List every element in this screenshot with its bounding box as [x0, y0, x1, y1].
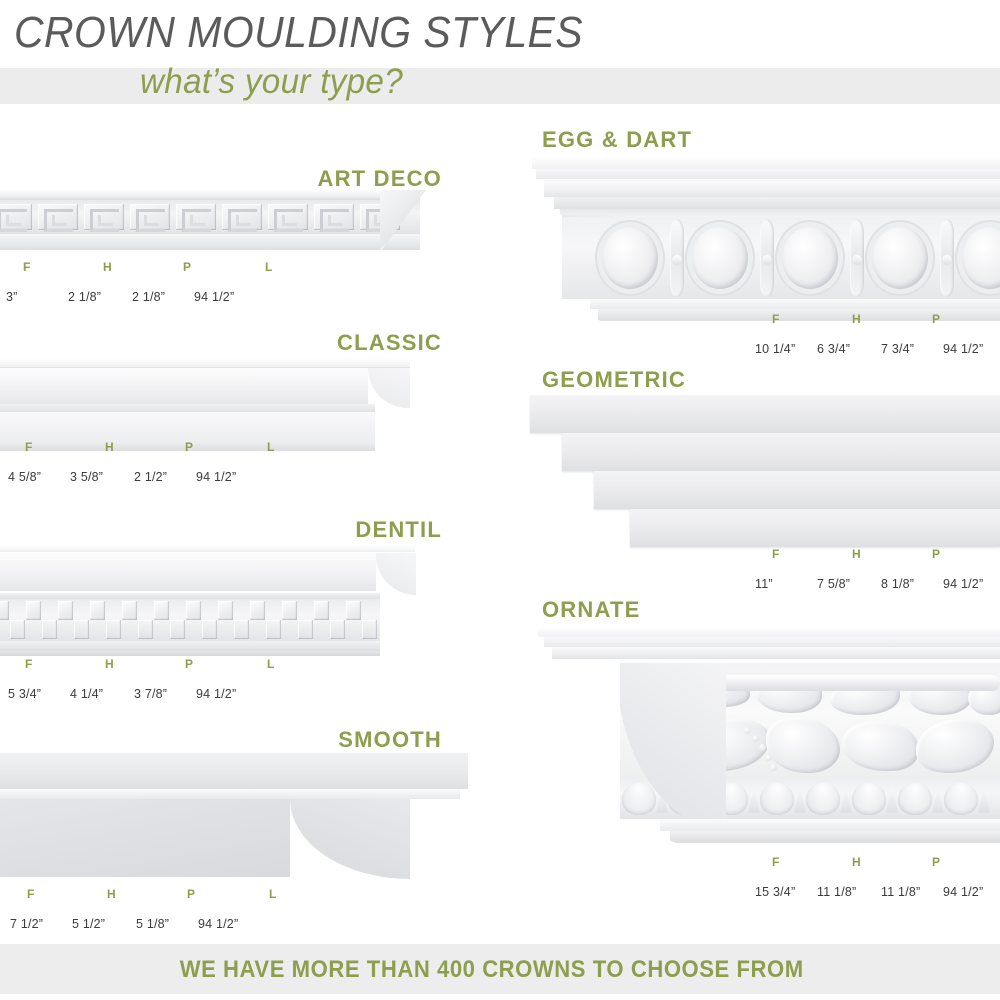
spec-header-l: L — [249, 887, 339, 901]
spec-header-f: F — [755, 312, 834, 326]
spec-header-h: H — [834, 312, 916, 326]
section-title-classic: CLASSIC — [337, 330, 442, 356]
infographic-page: CROWN MOULDING STYLES what’s your type? … — [0, 0, 1000, 1000]
spec-table-smooth: FHPL 7 1/2”5 1/2”5 1/8”94 1/2” — [10, 885, 339, 936]
spec-value-f: 11” — [755, 577, 817, 591]
spec-header-l: L — [245, 260, 335, 274]
spec-header-h: H — [87, 657, 169, 671]
spec-value-f: 3” — [6, 290, 68, 304]
spec-header-p: P — [171, 887, 249, 901]
moulding-profile-dentil — [0, 545, 450, 670]
moulding-profile-geometric — [520, 395, 1000, 550]
spec-header-f: F — [755, 855, 834, 869]
section-title-geometric: GEOMETRIC — [542, 367, 686, 393]
moulding-profile-art-deco — [0, 190, 450, 260]
spec-header-l: L — [994, 547, 1000, 561]
spec-value-p: 8 1/8” — [881, 577, 943, 591]
spec-header-p: P — [916, 312, 994, 326]
spec-value-f: 15 3/4” — [755, 885, 817, 899]
spec-header-h: H — [834, 547, 916, 561]
section-egg-and-dart: EGG & DART — [520, 125, 1000, 365]
spec-table-geometric: FHPL 11”7 5/8”8 1/8”94 1/2” — [755, 545, 1000, 596]
spec-header-f: F — [755, 547, 834, 561]
header: CROWN MOULDING STYLES what’s your type? — [0, 0, 1000, 110]
spec-value-h: 7 5/8” — [817, 577, 881, 591]
spec-header-f: F — [6, 260, 85, 274]
moulding-profile-egg-and-dart — [520, 157, 1000, 332]
spec-value-h: 3 5/8” — [70, 470, 134, 484]
spec-header-l: L — [994, 312, 1000, 326]
page-subtitle: what’s your type? — [140, 62, 403, 102]
spec-header-p: P — [169, 440, 247, 454]
spec-header-p: P — [167, 260, 245, 274]
section-title-smooth: SMOOTH — [338, 727, 442, 753]
spec-value-l: 94 1/2” — [196, 470, 266, 484]
spec-value-f: 10 1/4” — [755, 342, 817, 356]
spec-value-l: 94 1/2” — [198, 917, 268, 931]
section-art-deco: ART DECO FHP — [0, 160, 450, 300]
spec-value-p: 11 1/8” — [881, 885, 943, 899]
spec-header-f: F — [8, 440, 87, 454]
spec-header-p: P — [916, 855, 994, 869]
spec-header-p: P — [169, 657, 247, 671]
spec-value-l: 94 1/2” — [943, 577, 1000, 591]
moulding-profile-smooth — [0, 753, 480, 883]
spec-header-f: F — [10, 887, 89, 901]
section-ornate: ORNATE — [520, 595, 1000, 925]
section-dentil: DENTIL — [0, 515, 450, 710]
spec-value-l: 94 1/2” — [943, 342, 1000, 356]
spec-header-f: F — [8, 657, 87, 671]
spec-value-p: 7 3/4” — [881, 342, 943, 356]
spec-header-p: P — [916, 547, 994, 561]
section-title-ornate: ORNATE — [542, 597, 640, 623]
spec-value-l: 94 1/2” — [943, 885, 1000, 899]
spec-header-l: L — [247, 657, 337, 671]
spec-header-h: H — [85, 260, 167, 274]
spec-header-h: H — [89, 887, 171, 901]
spec-value-l: 94 1/2” — [194, 290, 264, 304]
footer-tagline: WE HAVE MORE THAN 400 CROWNS TO CHOOSE F… — [40, 956, 960, 984]
spec-table-egg-and-dart: FHPL 10 1/4”6 3/4”7 3/4”94 1/2” — [755, 310, 1000, 361]
spec-value-h: 6 3/4” — [817, 342, 881, 356]
moulding-profile-ornate — [520, 627, 1000, 857]
footer: WE HAVE MORE THAN 400 CROWNS TO CHOOSE F… — [0, 940, 1000, 1000]
section-title-art-deco: ART DECO — [318, 166, 443, 192]
spec-value-f: 4 5/8” — [8, 470, 70, 484]
spec-table-art-deco: FHPL 3”2 1/8”2 1/8”94 1/2” — [6, 258, 335, 309]
spec-value-f: 5 3/4” — [8, 687, 70, 701]
spec-value-p: 3 7/8” — [134, 687, 196, 701]
section-title-dentil: DENTIL — [355, 517, 442, 543]
spec-value-l: 94 1/2” — [196, 687, 266, 701]
spec-header-l: L — [994, 855, 1000, 869]
spec-header-h: H — [87, 440, 169, 454]
spec-header-l: L — [247, 440, 337, 454]
spec-value-p: 2 1/2” — [134, 470, 196, 484]
section-geometric: GEOMETRIC FHPL 11”7 5/8”8 1/8”94 1/2” — [520, 365, 1000, 600]
spec-table-ornate: FHPL 15 3/4”11 1/8”11 1/8”94 1/2” — [755, 853, 1000, 904]
spec-table-classic: FHPL 4 5/8”3 5/8”2 1/2”94 1/2” — [8, 438, 337, 489]
spec-value-h: 4 1/4” — [70, 687, 134, 701]
section-smooth: SMOOTH FHPL 7 1/2”5 1/2”5 1/8”94 1/2” — [0, 725, 450, 935]
spec-table-dentil: FHPL 5 3/4”4 1/4”3 7/8”94 1/2” — [8, 655, 337, 706]
spec-value-h: 2 1/8” — [68, 290, 132, 304]
spec-value-f: 7 1/2” — [10, 917, 72, 931]
spec-value-h: 5 1/2” — [72, 917, 136, 931]
spec-value-p: 5 1/8” — [136, 917, 198, 931]
spec-header-h: H — [834, 855, 916, 869]
spec-value-h: 11 1/8” — [817, 885, 881, 899]
spec-value-p: 2 1/8” — [132, 290, 194, 304]
section-title-egg-and-dart: EGG & DART — [542, 127, 692, 153]
section-classic: CLASSIC FHPL 4 5/8”3 5/8”2 1/2”94 1/2” — [0, 330, 450, 490]
page-title: CROWN MOULDING STYLES — [14, 8, 583, 58]
